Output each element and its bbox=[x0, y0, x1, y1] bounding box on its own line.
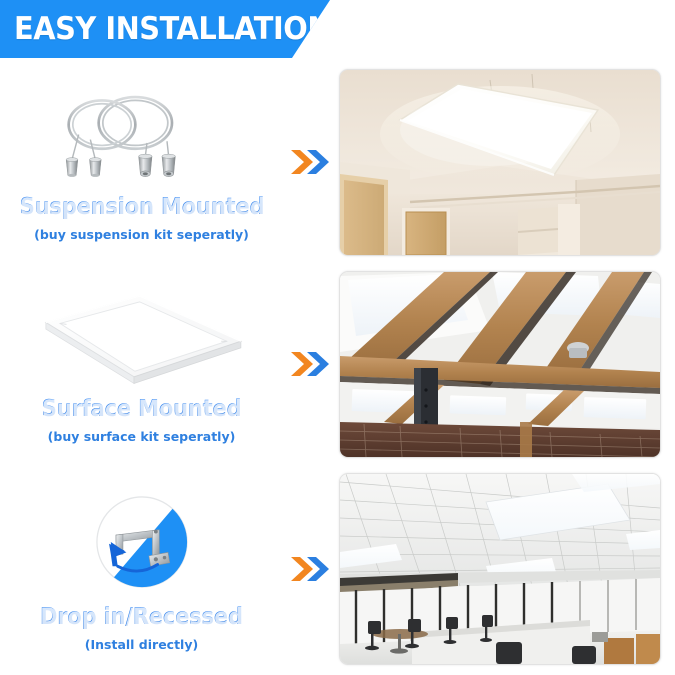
suspension-left-column: Suspension Mounted (buy suspension kit s… bbox=[0, 62, 283, 262]
suspension-cable-kit-illustration bbox=[22, 83, 262, 188]
surface-mounted-panels-beam-ceiling-photo bbox=[339, 271, 661, 458]
dropin-sublabel: (Install directly) bbox=[85, 637, 198, 652]
double-chevron-right-icon-surface bbox=[283, 349, 335, 379]
double-chevron-right-icon-suspension bbox=[283, 147, 335, 177]
surface-mount-frame-illustration bbox=[22, 285, 262, 390]
suspension-sublabel: (buy suspension kit seperatly) bbox=[34, 227, 249, 242]
drop-in-bracket-circle-icon bbox=[22, 486, 262, 598]
installation-row-suspension: Suspension Mounted (buy suspension kit s… bbox=[0, 62, 675, 262]
suspension-label: Suspension Mounted bbox=[19, 194, 264, 220]
installation-row-dropin: Drop in/Recessed (Install directly) bbox=[0, 466, 675, 671]
installation-row-surface: Surface Mounted (buy surface kit seperat… bbox=[0, 264, 675, 464]
dropin-left-column: Drop in/Recessed (Install directly) bbox=[0, 466, 283, 671]
surface-label: Surface Mounted bbox=[42, 396, 242, 422]
banner-title: EASY INSTALLATION bbox=[14, 11, 331, 47]
header-banner: EASY INSTALLATION bbox=[0, 0, 330, 58]
double-chevron-right-icon-dropin bbox=[283, 554, 335, 584]
surface-left-column: Surface Mounted (buy surface kit seperat… bbox=[0, 264, 283, 464]
surface-sublabel: (buy surface kit seperatly) bbox=[48, 429, 236, 444]
recessed-panels-office-ceiling-photo bbox=[339, 473, 661, 665]
dropin-label: Drop in/Recessed bbox=[40, 604, 243, 630]
suspended-led-panel-room-photo bbox=[339, 69, 661, 256]
